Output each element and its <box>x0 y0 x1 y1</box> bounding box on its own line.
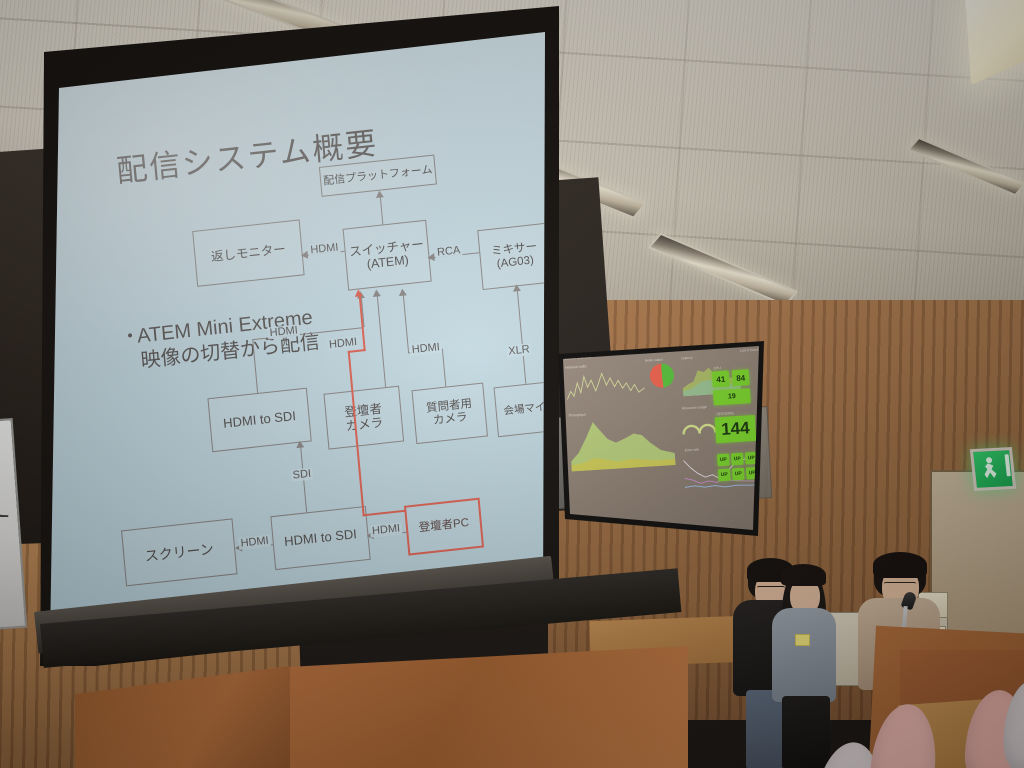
edge-label-hdmi-pc: HDMI <box>370 522 403 537</box>
panel-label-errors: Error rate <box>685 447 700 452</box>
panel-label-gauges: Resource usage <box>682 405 707 411</box>
arrow-up-platform <box>375 190 384 198</box>
panel-label-status: Node status <box>645 358 663 363</box>
status-tile-up: UP <box>731 453 744 466</box>
diagram-box-camera-questioner: 質問者用 カメラ <box>412 383 488 445</box>
stat-tile-disk: 19 <box>713 388 751 405</box>
diagram-box-monitor: 返しモニター <box>192 219 304 286</box>
edge-label-xlr: XLR <box>506 343 532 358</box>
torso-grey-cardigan <box>772 608 836 702</box>
stat-tile-mem: 84 <box>732 369 750 386</box>
edge-cam-ask-up <box>442 349 447 387</box>
status-tile-up: UP <box>718 469 731 482</box>
whiteboard-mark <box>0 495 9 518</box>
diagram-box-switcher: スイッチャー (ATEM) <box>343 220 432 291</box>
stat-tile-cpu: 41 <box>712 370 730 387</box>
edge-label-hdmi-a: HDMI <box>267 324 300 339</box>
panel-label-latency: Latency <box>681 356 693 361</box>
edge-label-rca: RCA <box>435 244 463 259</box>
stat-tile-sessions: 144 <box>715 415 757 443</box>
arrow-up-sdi <box>296 440 305 448</box>
edge-label-hdmi-c: HDMI <box>409 341 442 356</box>
secondary-monitor-screen: Grafana Monitoring Cluster overview Last… <box>552 340 768 538</box>
edge-label-hdmi-b: HDMI <box>327 336 360 351</box>
dashboard-time-range: Last 6 hours <box>740 348 759 353</box>
arrow-up-mixer <box>512 284 521 292</box>
hair-fringe <box>873 552 927 578</box>
arrow-left-monitor <box>300 251 308 260</box>
edge-label-sdi: SDI <box>290 467 313 481</box>
exit-sign <box>970 447 1016 491</box>
glasses <box>757 586 785 590</box>
system-diagram: 配信プラットフォーム 返しモニター スイッチャー (ATEM) ミキサー (AG… <box>62 0 613 634</box>
legs-dark <box>782 696 830 768</box>
edge-label-hdmi-monitor: HDMI <box>308 241 341 256</box>
edge-label-hdmi-screen: HDMI <box>238 534 271 549</box>
chart-traffic-sparkline <box>565 365 645 408</box>
diagram-box-hdmi-to-sdi-lower: HDMI to SDI <box>270 506 370 570</box>
edge-highlight-pc-horizontal <box>363 510 407 517</box>
hair-fringe <box>781 564 826 586</box>
edge-sdi-box-up <box>252 339 258 393</box>
podium-front <box>268 646 688 768</box>
status-tile-up: UP <box>732 468 745 481</box>
chart-throughput-area <box>568 411 675 471</box>
edge-cam-speaker-switcher <box>377 293 387 387</box>
chart-status-pie <box>649 363 674 388</box>
arrow-up-switcher-c <box>398 288 407 296</box>
name-badge <box>795 634 810 646</box>
arrow-up-highlight <box>354 289 363 297</box>
arrow-left-switcher <box>427 253 435 262</box>
diagram-box-camera-speaker: 登壇者 カメラ <box>323 386 404 450</box>
diagram-box-screen: スクリーン <box>121 518 237 586</box>
glasses <box>884 582 916 586</box>
diagram-box-speaker-pc: 登壇者PC <box>404 498 484 556</box>
status-tile-up: UP <box>717 454 730 467</box>
arrow-up-switcher-b <box>372 289 381 297</box>
running-person-icon <box>979 455 1008 482</box>
edge-mic-up <box>523 356 527 384</box>
monitoring-dashboard: Grafana Monitoring Cluster overview Last… <box>560 340 768 538</box>
presentation-room-photo: 配信システム概要 • ATEM Mini Extreme 映像の切替から配信 配… <box>0 0 1024 768</box>
panel-label-cpu: CPU <box>713 366 720 370</box>
diagram-box-mixer: ミキサー (AG03) <box>477 223 552 290</box>
